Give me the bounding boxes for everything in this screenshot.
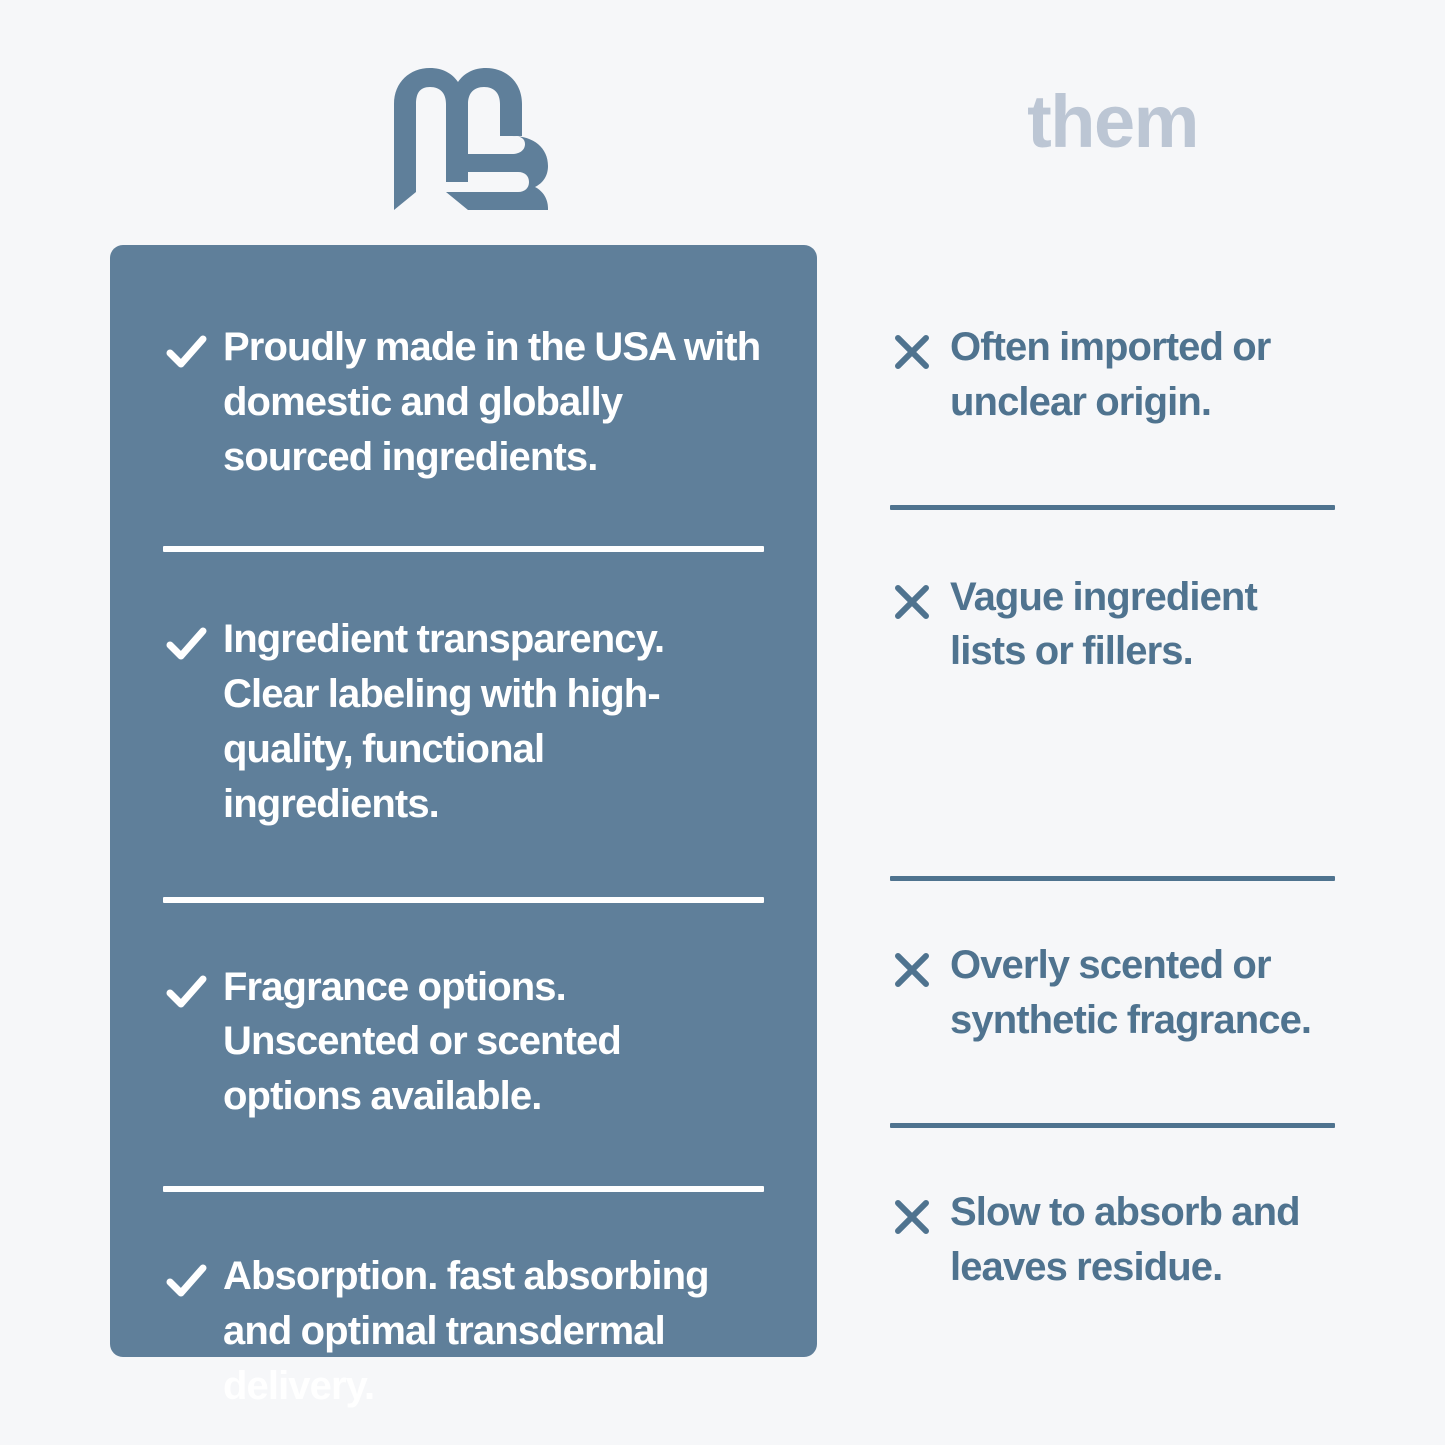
mb-monogram-logo: [384, 62, 556, 210]
us-comparison-card: Proudly made in the USA with domestic an…: [110, 245, 817, 1357]
list-item-label: Absorption. fast absorbing and optimal t…: [223, 1249, 764, 1413]
divider: [890, 1123, 1335, 1128]
comparison-infographic: them Proudly made in the USA with domest…: [0, 0, 1445, 1445]
list-item: Ingredient transparency. Clear labeling …: [163, 612, 764, 831]
divider: [890, 505, 1335, 510]
list-item: Vague ingredient lists or fillers.: [890, 570, 1335, 680]
them-heading: them: [890, 85, 1335, 159]
list-item: Slow to absorb and leaves residue.: [890, 1185, 1335, 1295]
x-icon: [890, 1195, 934, 1239]
list-item-label: Vague ingredient lists or fillers.: [950, 570, 1335, 680]
check-icon: [163, 968, 209, 1014]
x-icon: [890, 330, 934, 374]
list-item-label: Overly scented or synthetic fragrance.: [950, 938, 1335, 1048]
list-item: Overly scented or synthetic fragrance.: [890, 938, 1335, 1048]
list-item: Fragrance options. Unscented or scented …: [163, 960, 764, 1124]
x-icon: [890, 580, 934, 624]
list-item-label: Proudly made in the USA with domestic an…: [223, 320, 764, 484]
list-item-label: Often imported or unclear origin.: [950, 320, 1335, 430]
header: them: [0, 0, 1445, 245]
x-icon: [890, 948, 934, 992]
check-icon: [163, 620, 209, 666]
divider: [163, 897, 764, 903]
divider: [890, 876, 1335, 881]
list-item: Proudly made in the USA with domestic an…: [163, 320, 764, 484]
list-item-label: Fragrance options. Unscented or scented …: [223, 960, 764, 1124]
divider: [163, 1186, 764, 1192]
list-item-label: Ingredient transparency. Clear labeling …: [223, 612, 764, 831]
list-item: Absorption. fast absorbing and optimal t…: [163, 1249, 764, 1413]
us-feature-list: Proudly made in the USA with domestic an…: [163, 245, 764, 1357]
divider: [163, 546, 764, 552]
them-comparison-column: Often imported or unclear origin. Vague …: [890, 245, 1335, 1357]
check-icon: [163, 328, 209, 374]
list-item-label: Slow to absorb and leaves residue.: [950, 1185, 1335, 1295]
check-icon: [163, 1257, 209, 1303]
list-item: Often imported or unclear origin.: [890, 320, 1335, 430]
